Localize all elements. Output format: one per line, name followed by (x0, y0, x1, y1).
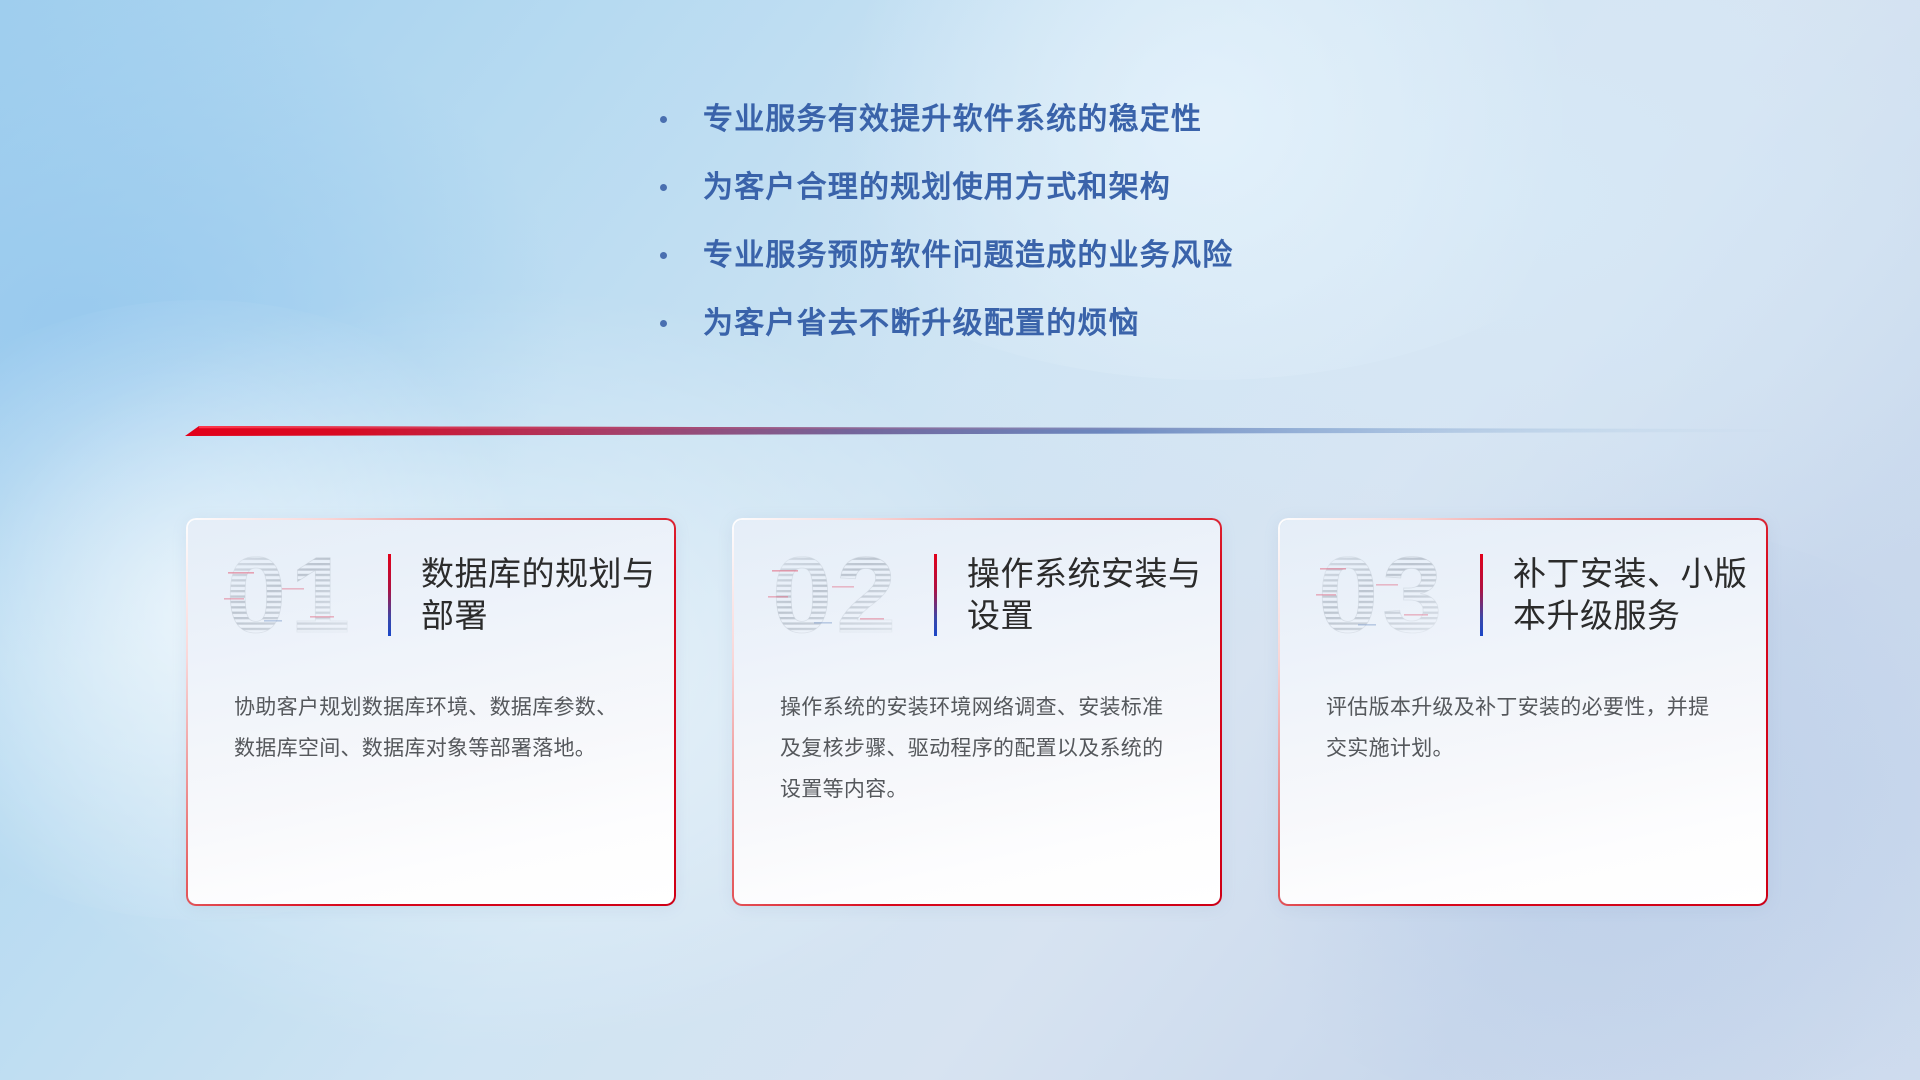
card-description: 协助客户规划数据库环境、数据库参数、数据库空间、数据库对象等部署落地。 (188, 670, 674, 770)
card-surface: 02 02 操作系统安装与设置 操作系统的安装环境网络调查、安装 (734, 520, 1220, 904)
service-card[interactable]: 03 03 补丁安装、小版本升级服务 评估版本升级及补丁安装的必 (1278, 518, 1768, 906)
divider-wedge-icon (185, 420, 1775, 442)
bullet-label: 专业服务预防软件问题造成的业务风险 (703, 238, 1233, 274)
card-header: 03 03 补丁安装、小版本升级服务 (1280, 520, 1766, 670)
service-card[interactable]: 02 02 操作系统安装与设置 操作系统的安装环境网络调查、安装 (732, 518, 1222, 906)
card-group: 01 01 数据库的规划与部署 协助客户规划数据库环境、数据库参 (186, 518, 1768, 906)
bullet-dot-icon (660, 320, 667, 327)
card-number-03-icon: 03 03 (1314, 536, 1472, 654)
slide-root: 专业服务有效提升软件系统的稳定性 为客户合理的规划使用方式和架构 专业服务预防软… (0, 0, 1920, 1080)
list-item: 专业服务有效提升软件系统的稳定性 (660, 102, 1560, 138)
card-description: 评估版本升级及补丁安装的必要性，并提交实施计划。 (1280, 670, 1766, 770)
card-header: 01 01 数据库的规划与部署 (188, 520, 674, 670)
bullet-dot-icon (660, 252, 667, 259)
card-description: 操作系统的安装环境网络调查、安装标准及复核步骤、驱动程序的配置以及系统的设置等内… (734, 670, 1220, 811)
section-divider (185, 420, 1775, 442)
card-title: 操作系统安装与设置 (967, 553, 1217, 637)
card-header: 02 02 操作系统安装与设置 (734, 520, 1220, 670)
svg-text:01: 01 (226, 536, 354, 654)
bullet-label: 专业服务有效提升软件系统的稳定性 (703, 102, 1202, 138)
list-item: 为客户省去不断升级配置的烦恼 (660, 306, 1560, 342)
svg-text:02: 02 (772, 536, 900, 654)
card-surface: 01 01 数据库的规划与部署 协助客户规划数据库环境、数据库参 (188, 520, 674, 904)
card-accent-rule (1480, 554, 1483, 636)
bullet-dot-icon (660, 116, 667, 123)
card-accent-rule (388, 554, 391, 636)
bullet-label: 为客户省去不断升级配置的烦恼 (703, 306, 1140, 342)
card-title: 补丁安装、小版本升级服务 (1513, 553, 1763, 637)
bullet-label: 为客户合理的规划使用方式和架构 (703, 170, 1171, 206)
svg-text:03: 03 (1318, 536, 1446, 654)
card-title: 数据库的规划与部署 (421, 553, 671, 637)
card-surface: 03 03 补丁安装、小版本升级服务 评估版本升级及补丁安装的必 (1280, 520, 1766, 904)
bullet-dot-icon (660, 184, 667, 191)
service-card[interactable]: 01 01 数据库的规划与部署 协助客户规划数据库环境、数据库参 (186, 518, 676, 906)
card-number-01-icon: 01 01 (222, 536, 380, 654)
list-item: 专业服务预防软件问题造成的业务风险 (660, 238, 1560, 274)
list-item: 为客户合理的规划使用方式和架构 (660, 170, 1560, 206)
bullet-list: 专业服务有效提升软件系统的稳定性 为客户合理的规划使用方式和架构 专业服务预防软… (660, 102, 1560, 374)
card-number-02-icon: 02 02 (768, 536, 926, 654)
card-accent-rule (934, 554, 937, 636)
